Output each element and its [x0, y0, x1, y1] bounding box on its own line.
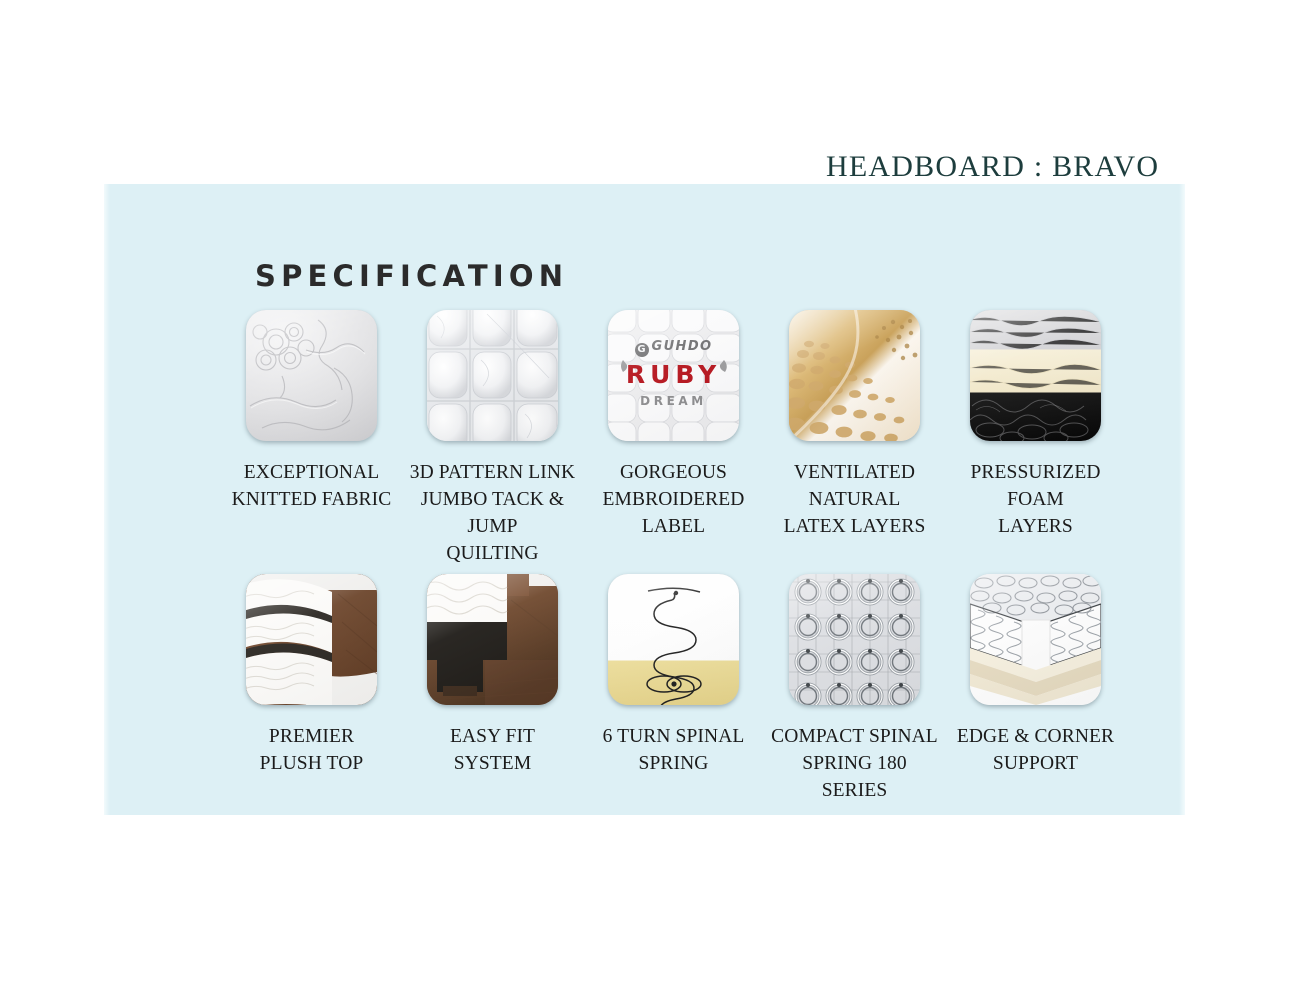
- spec-caption: VENTILATEDNATURALLATEX LAYERS: [760, 459, 950, 540]
- spec-item-spring-grid[interactable]: COMPACT SPINALSPRING 180SERIES: [764, 574, 945, 804]
- brand-mark-icon: G: [635, 343, 649, 357]
- spec-item-coil-spring[interactable]: 6 TURN SPINALSPRING: [583, 574, 764, 804]
- specification-grid: EXCEPTIONALKNITTED FABRIC: [221, 310, 1165, 804]
- spec-caption: EXCEPTIONALKNITTED FABRIC: [217, 459, 407, 513]
- spec-item-knitted-fabric[interactable]: EXCEPTIONALKNITTED FABRIC: [221, 310, 402, 567]
- headline-clip-region: HEADBOARD : BRAVO: [0, 0, 1300, 184]
- spec-item-easy-fit[interactable]: EASY FITSYSTEM: [402, 574, 583, 804]
- knitted-fabric-swatch-icon[interactable]: [246, 310, 377, 441]
- spec-item-foam-layers[interactable]: PRESSURIZED FOAMLAYERS: [945, 310, 1126, 567]
- thumb-wrap: [246, 574, 377, 705]
- spec-row-2: PREMIERPLUSH TOP: [221, 574, 1165, 804]
- embroidered-label-icon[interactable]: GGUHDO RUBY DREAM: [608, 310, 739, 441]
- spec-item-quilting[interactable]: 3D PATTERN LINKJUMBO TACK & JUMPQUILTING: [402, 310, 583, 567]
- thumb-wrap: GGUHDO RUBY DREAM: [608, 310, 739, 441]
- spec-caption: PRESSURIZED FOAMLAYERS: [941, 459, 1131, 540]
- spec-caption: 3D PATTERN LINKJUMBO TACK & JUMPQUILTING: [398, 459, 588, 567]
- thumb-wrap: [970, 310, 1101, 441]
- easy-fit-system-icon[interactable]: [427, 574, 558, 705]
- ventilated-latex-icon[interactable]: [789, 310, 920, 441]
- thumb-wrap: [789, 574, 920, 705]
- spec-caption: PREMIERPLUSH TOP: [217, 723, 407, 777]
- page-title: SPECIFICATION: [255, 259, 568, 293]
- spec-row-1: EXCEPTIONALKNITTED FABRIC: [221, 310, 1165, 567]
- edge-support-icon[interactable]: [970, 574, 1101, 705]
- specification-panel: SPECIFICATION: [104, 184, 1185, 815]
- plush-top-icon[interactable]: [246, 574, 377, 705]
- coil-spring-icon[interactable]: [608, 574, 739, 705]
- thumb-wrap: [427, 310, 558, 441]
- label-product-name: RUBY: [608, 360, 739, 389]
- thumb-wrap: [427, 574, 558, 705]
- thumb-wrap: [789, 310, 920, 441]
- spec-item-embroidered-label[interactable]: GGUHDO RUBY DREAM GORGEOUSEMBROIDEREDLAB…: [583, 310, 764, 567]
- label-product-sub: DREAM: [608, 394, 739, 408]
- quilting-pattern-swatch-icon[interactable]: [427, 310, 558, 441]
- spec-item-edge-support[interactable]: EDGE & CORNERSUPPORT: [945, 574, 1126, 804]
- foam-layers-icon[interactable]: [970, 310, 1101, 441]
- thumb-wrap: [246, 310, 377, 441]
- spec-caption: EDGE & CORNERSUPPORT: [941, 723, 1131, 777]
- thumb-wrap: [608, 574, 739, 705]
- label-brand: GGUHDO: [608, 339, 739, 357]
- spec-caption: GORGEOUSEMBROIDEREDLABEL: [579, 459, 769, 540]
- brand-name: GUHDO: [652, 339, 713, 354]
- spec-caption: COMPACT SPINALSPRING 180SERIES: [760, 723, 950, 804]
- headline-text: HEADBOARD : BRAVO: [826, 150, 1159, 184]
- spring-grid-icon[interactable]: [789, 574, 920, 705]
- spec-item-plush-top[interactable]: PREMIERPLUSH TOP: [221, 574, 402, 804]
- spec-caption: 6 TURN SPINALSPRING: [579, 723, 769, 777]
- spec-item-ventilated-latex[interactable]: VENTILATEDNATURALLATEX LAYERS: [764, 310, 945, 567]
- thumb-wrap: [970, 574, 1101, 705]
- spec-caption: EASY FITSYSTEM: [398, 723, 588, 777]
